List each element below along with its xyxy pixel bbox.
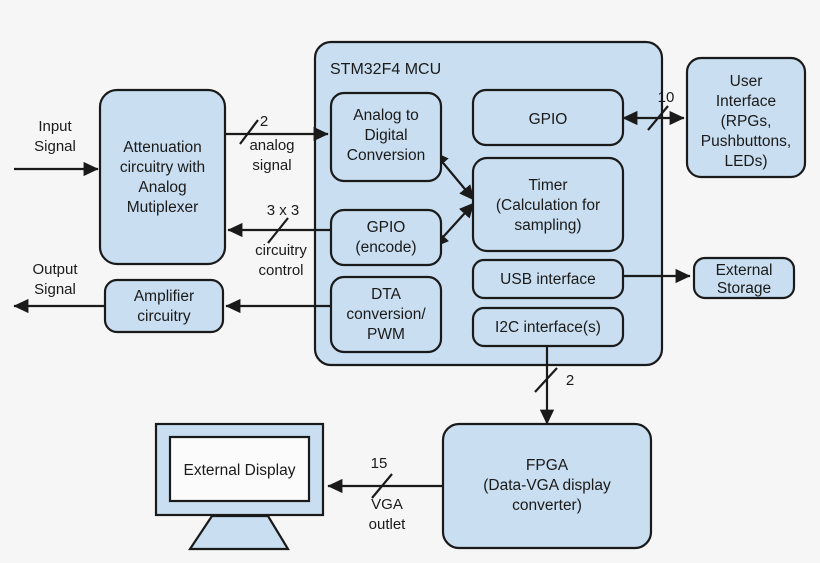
block-dta-line-2: conversion/ [346,306,426,323]
mcu-title: STM32F4 MCU [330,61,441,78]
block-fpga-line-3: converter) [512,497,582,514]
label-output-signal-line-2: Signal [34,281,76,298]
label-analog-signal-line-1: analog [249,137,294,154]
monitor-screen-label: External Display [184,462,296,479]
label-circuitry-control-line-2: control [258,262,303,279]
block-attenuation-circuitry[interactable] [100,90,225,264]
block-attenuation-line-4: Mutiplexer [127,199,199,216]
block-ui-line-4: Pushbuttons, [701,133,791,150]
block-amplifier-line-2: circuitry [137,308,191,325]
label-analog-bus-width: 2 [260,113,268,130]
block-adc-line-1: Analog to [353,107,419,124]
block-ui-line-1: User [730,73,763,90]
external-display-monitor[interactable]: External Display [156,424,323,549]
block-ui-line-3: (RPGs, [721,113,772,130]
block-dta-line-3: PWM [367,326,405,343]
label-circuitry-control-bus-width: 3 x 3 [267,202,300,219]
block-fpga-line-2: (Data-VGA display [483,477,611,494]
block-timer-line-1: Timer [528,177,567,194]
block-timer-line-2: (Calculation for [496,197,600,214]
block-external-storage-line-2: Storage [717,280,771,297]
label-vga-bus-width: 15 [371,455,388,472]
label-circuitry-control-line-1: circuitry [255,242,307,259]
block-attenuation-line-1: Attenuation [123,139,201,156]
block-diagram-canvas: STM32F4 MCU Attenuation circuitr [0,0,820,563]
label-ui-bus-width: 10 [658,89,675,106]
block-external-storage-line-1: External [716,262,773,279]
block-ui-line-2: Interface [716,93,776,110]
block-i2c-label: I2C interface(s) [495,319,601,336]
block-amplifier-line-1: Amplifier [134,288,194,305]
monitor-stand [190,516,288,549]
block-attenuation-line-3: Analog [138,179,186,196]
label-input-signal-line-1: Input [38,118,72,135]
label-output-signal-line-1: Output [32,261,78,278]
block-attenuation-line-2: circuitry with [120,159,205,176]
block-timer-line-3: sampling) [514,217,581,234]
label-analog-signal-line-2: signal [252,157,291,174]
block-dta-line-1: DTA [371,286,402,303]
block-gpio-encode-line-2: (encode) [355,239,416,256]
block-usb-label: USB interface [500,271,596,288]
label-i2c-fpga-bus-width: 2 [566,372,574,389]
block-adc-line-2: Digital [364,127,407,144]
block-ui-line-5: LEDs) [724,153,767,170]
label-input-signal-line-2: Signal [34,138,76,155]
block-fpga-line-1: FPGA [526,457,569,474]
block-diagram-svg: STM32F4 MCU Attenuation circuitr [0,0,820,563]
label-vga-outlet-line-2: outlet [369,516,407,533]
label-vga-outlet-line-1: VGA [371,496,403,513]
block-gpio-label: GPIO [529,111,568,128]
block-gpio-encode-line-1: GPIO [367,219,406,236]
block-adc-line-3: Conversion [347,147,425,164]
